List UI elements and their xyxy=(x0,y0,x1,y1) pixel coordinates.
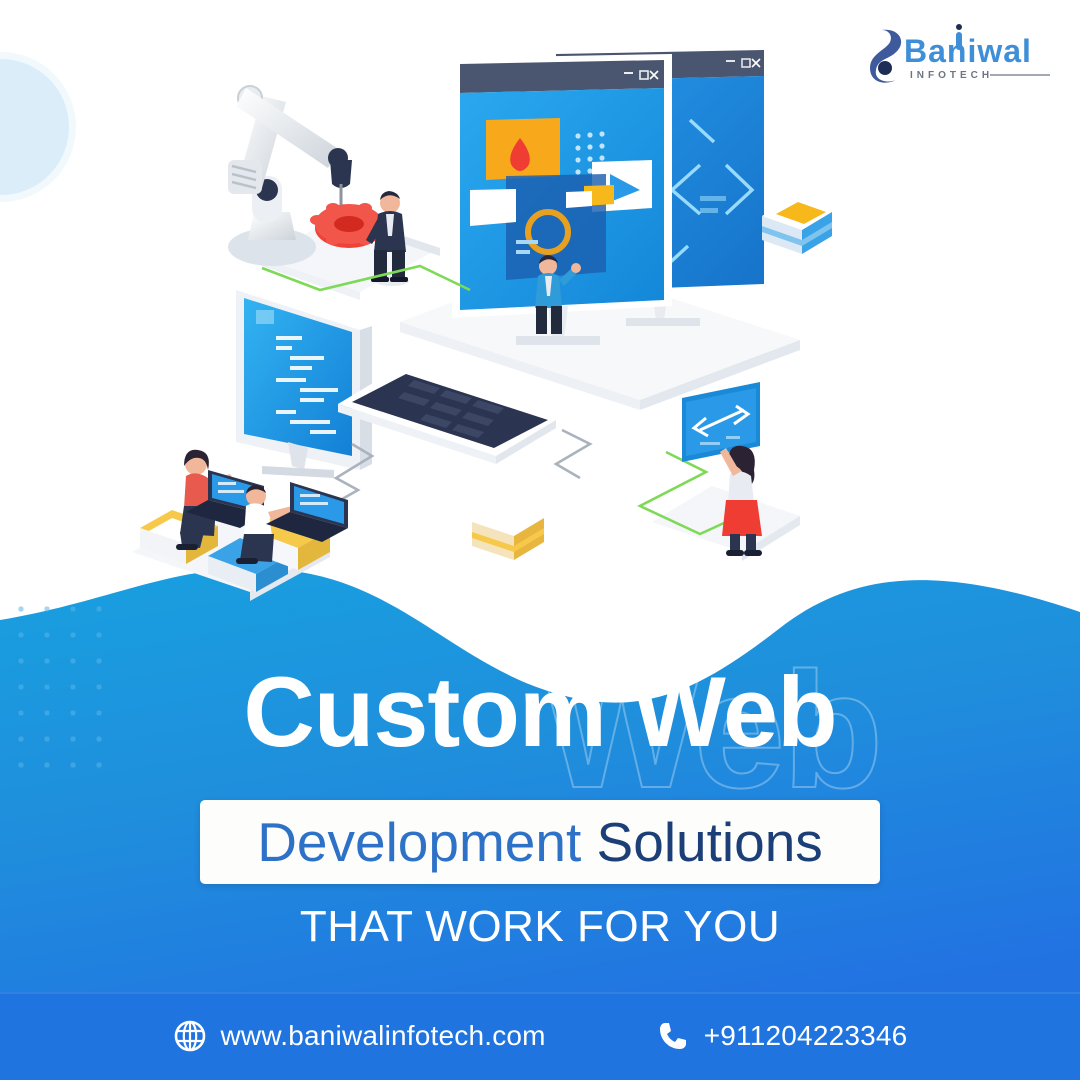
logo-accent-dot xyxy=(956,24,962,50)
phone-icon xyxy=(656,1019,690,1053)
globe-icon xyxy=(173,1019,207,1053)
code-monitor xyxy=(236,290,372,478)
logo-wordmark: Baniwal xyxy=(904,33,1032,69)
hero-illustration xyxy=(0,0,1080,640)
logo-mark xyxy=(870,30,901,83)
subtitle-banner: Development Solutions xyxy=(200,800,880,884)
brand-logo[interactable]: Baniwal INFOTECH xyxy=(868,14,1058,90)
phone-contact[interactable]: +911204223346 xyxy=(656,1019,908,1053)
tagline: THAT WORK FOR YOU xyxy=(0,902,1080,952)
page-title: Custom Web xyxy=(0,660,1080,764)
book-stack-center xyxy=(472,504,544,560)
subtitle-text: Development Solutions xyxy=(257,815,823,870)
subtitle-word-solutions: Solutions xyxy=(597,811,823,873)
subtitle-word-development: Development xyxy=(257,811,581,873)
browser-window-front xyxy=(452,54,672,345)
logo-tagline: INFOTECH xyxy=(910,70,993,81)
website-text: www.baniwalinfotech.com xyxy=(221,1020,546,1052)
contact-footer: www.baniwalinfotech.com +911204223346 xyxy=(0,992,1080,1080)
poster-canvas: Web Custom Web Development Solutions THA… xyxy=(0,0,1080,1080)
website-contact[interactable]: www.baniwalinfotech.com xyxy=(173,1019,546,1053)
phone-text: +911204223346 xyxy=(704,1020,908,1052)
book-stack-topright xyxy=(762,198,832,254)
headline-block: Web Custom Web xyxy=(0,660,1080,764)
